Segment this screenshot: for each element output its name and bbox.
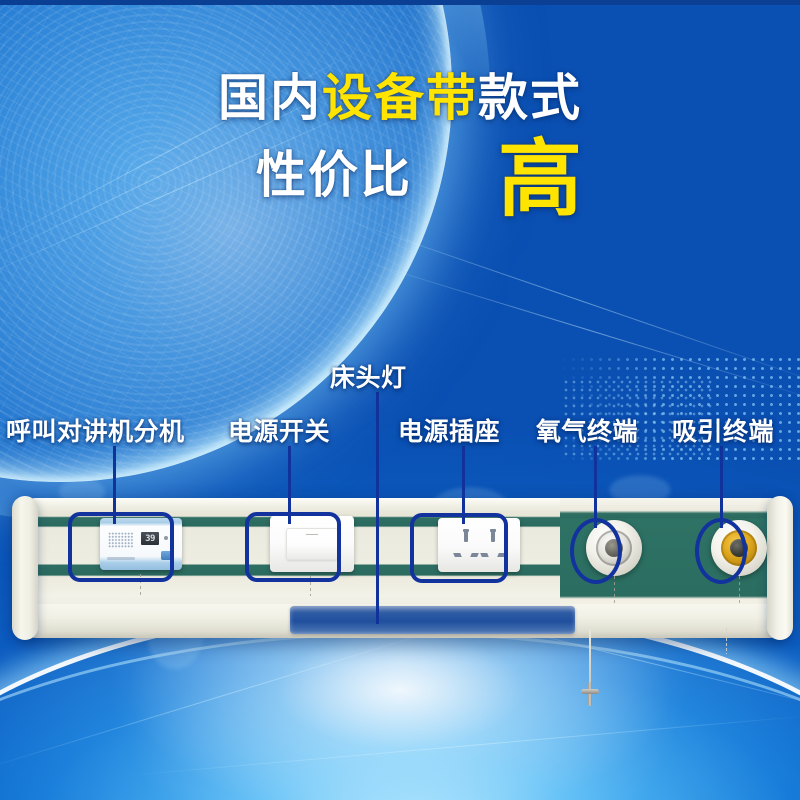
power-socket[interactable] [438, 518, 520, 572]
headline-line1-highlight: 设备带 [322, 70, 478, 126]
panel-seam-o2 [614, 576, 615, 604]
power-socket-face [448, 527, 510, 563]
intercom-display: 39 [141, 532, 159, 545]
oxygen-terminal-port[interactable] [605, 539, 623, 557]
intercom-label-slot [107, 557, 135, 560]
leader-line-bed-lamp [376, 392, 379, 624]
headline-block: 国内设备带款式 性价比 高 [0, 72, 800, 214]
bed-head-unit[interactable]: 39 [20, 498, 785, 638]
oxygen-terminal-ring [596, 530, 632, 566]
end-cap-right [767, 496, 793, 640]
end-cap-left [12, 496, 38, 640]
suction-tube-stub [726, 628, 727, 654]
headline-line2-highlight: 高 [498, 141, 584, 218]
power-socket-outlet-left[interactable] [453, 531, 479, 559]
intercom-speaker-grille [108, 532, 134, 548]
headline-line1-part1: 国内 [218, 70, 322, 126]
suction-terminal-ring [721, 530, 757, 566]
headline-line1-part3: 款式 [478, 70, 582, 126]
suction-terminal-port[interactable] [730, 539, 748, 557]
panel-seam-suction [739, 576, 740, 604]
top-band [0, 0, 800, 5]
bed-lamp[interactable] [290, 606, 575, 634]
callout-label-oxygen-terminal: 氧气终端 [536, 412, 638, 448]
power-switch-rocker[interactable] [286, 528, 338, 560]
leader-line-nurse-call-intercom [113, 446, 116, 524]
headline-line2-part1: 性价比 [256, 149, 412, 202]
panel-seam-left [140, 574, 141, 596]
bed-head-unit-lower-rail [20, 604, 785, 638]
callout-label-power-switch: 电源开关 [228, 412, 330, 448]
intercom-led-indicator [164, 536, 168, 540]
pull-cord-handle[interactable] [581, 682, 599, 706]
leader-line-oxygen-terminal [594, 446, 597, 528]
oxygen-terminal[interactable] [586, 520, 642, 576]
callout-label-bed-lamp: 床头灯 [330, 358, 407, 394]
headline-line-1: 国内设备带款式 [0, 72, 800, 125]
panel-seam-mid [310, 576, 311, 596]
callout-label-nurse-call-intercom: 呼叫对讲机分机 [6, 412, 185, 448]
leader-line-power-socket [462, 446, 465, 524]
headline-line-2: 性价比 高 [0, 137, 800, 214]
callout-label-suction-terminal: 吸引终端 [672, 412, 774, 448]
intercom-call-button[interactable] [161, 551, 174, 560]
nurse-call-intercom[interactable]: 39 [100, 518, 182, 570]
power-switch-mark [306, 534, 318, 535]
callout-label-power-socket: 电源插座 [398, 412, 500, 448]
leader-line-power-switch [288, 446, 291, 524]
suction-terminal[interactable] [711, 520, 767, 576]
power-socket-outlet-right[interactable] [480, 531, 506, 559]
power-switch[interactable] [270, 516, 354, 572]
leader-line-suction-terminal [720, 446, 723, 528]
